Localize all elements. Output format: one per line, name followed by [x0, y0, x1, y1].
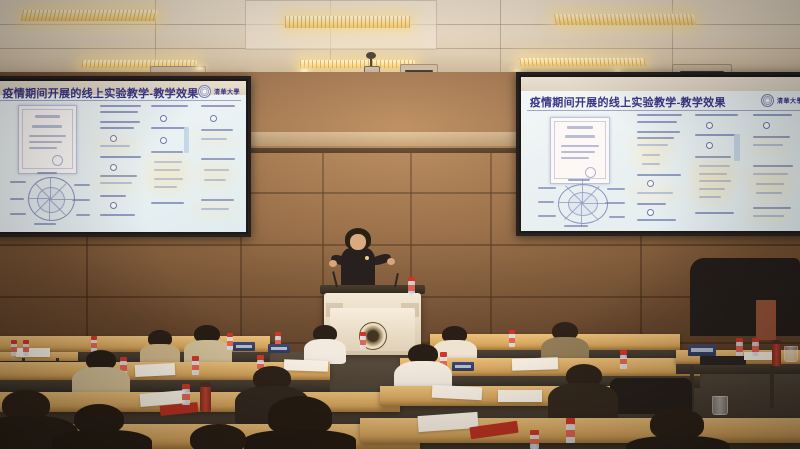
paper-sheet — [512, 357, 558, 371]
tsinghua-wordmark: 清華大學 — [777, 96, 800, 105]
right-slide-title: 疫情期间开展的线上实验教学-教学效果 — [530, 94, 726, 110]
water-bottle — [566, 418, 575, 443]
desk-front-panel — [676, 364, 800, 374]
thermos-flask — [200, 382, 211, 412]
right-slide: 疫情期间开展的线上实验教学-教学效果 清華大學 — [521, 77, 800, 231]
ceiling — [0, 0, 800, 74]
question-column — [695, 114, 741, 225]
tsinghua-seal-icon — [761, 94, 774, 107]
ceiling-light-panel — [21, 10, 158, 21]
waste-bin — [756, 300, 776, 340]
drinking-glass — [784, 346, 798, 362]
water-bottle — [192, 356, 199, 375]
name-placard — [268, 344, 290, 353]
left-slide: 疫情期间开展的线上实验教学-教学效果 清華大學 — [0, 81, 246, 232]
audience-member — [556, 364, 610, 420]
question-column — [637, 114, 683, 225]
question-column — [753, 114, 797, 225]
audience-member — [636, 408, 720, 449]
water-bottle — [620, 350, 627, 369]
audience-member — [308, 325, 342, 359]
name-placard — [452, 362, 474, 371]
question-column — [201, 105, 239, 226]
water-bottle — [182, 384, 190, 405]
audience-member — [252, 396, 348, 449]
water-bottle — [23, 340, 29, 356]
laptop — [700, 356, 746, 365]
audience-member — [176, 424, 262, 449]
name-placard — [688, 345, 716, 356]
tsinghua-wordmark: 清華大學 — [214, 87, 240, 96]
dark-object-right — [690, 258, 800, 336]
ceiling-light-panel — [520, 58, 646, 66]
water-bottle — [530, 430, 539, 449]
audience-member — [143, 330, 177, 360]
water-bottle — [752, 338, 759, 356]
radial-word-diagram — [10, 172, 90, 226]
downlight — [195, 66, 204, 71]
question-column — [151, 105, 191, 226]
presenter-badge — [365, 256, 369, 260]
presenter-torso — [341, 248, 375, 290]
water-bottle — [408, 277, 415, 295]
water-bottle — [360, 332, 366, 349]
certificate-image — [550, 117, 610, 184]
question-column — [100, 105, 143, 226]
water-bottle — [736, 338, 743, 356]
presenter-left-hand — [329, 260, 337, 267]
radial-word-diagram — [538, 179, 625, 228]
paper-sheet — [498, 390, 542, 402]
table-leg — [770, 366, 774, 408]
left-projection-screen: 疫情期间开展的线上实验教学-教学效果 清華大學 — [0, 76, 251, 237]
lecture-hall-photo: 疫情期间开展的线上实验教学-教学效果 清華大學 — [0, 0, 800, 449]
presenter-face — [350, 234, 366, 250]
audience-member — [546, 322, 584, 360]
right-projection-screen: 疫情期间开展的线上实验教学-教学效果 清華大學 — [516, 72, 800, 236]
left-slide-title: 疫情期间开展的线上实验教学-教学效果 — [3, 85, 199, 101]
paper-sheet — [432, 385, 483, 401]
tsinghua-logo: 清華大學 — [198, 85, 240, 98]
paper-sheet — [135, 363, 176, 377]
tsinghua-logo: 清華大學 — [761, 94, 800, 107]
thermos-flask — [772, 340, 781, 366]
ceiling-light-panel — [285, 16, 410, 28]
name-placard — [233, 342, 255, 351]
tsinghua-seal-icon — [198, 85, 211, 98]
ceiling-light-panel — [300, 60, 415, 68]
paper-stack — [16, 348, 50, 357]
audience-member — [62, 404, 140, 449]
presenter-right-hand — [387, 258, 395, 265]
water-bottle — [509, 330, 515, 347]
certificate-image — [18, 105, 78, 173]
audience-member — [400, 344, 446, 390]
audience-member — [78, 350, 124, 394]
water-bottle — [11, 340, 17, 356]
ceiling-light-panel — [554, 14, 696, 25]
